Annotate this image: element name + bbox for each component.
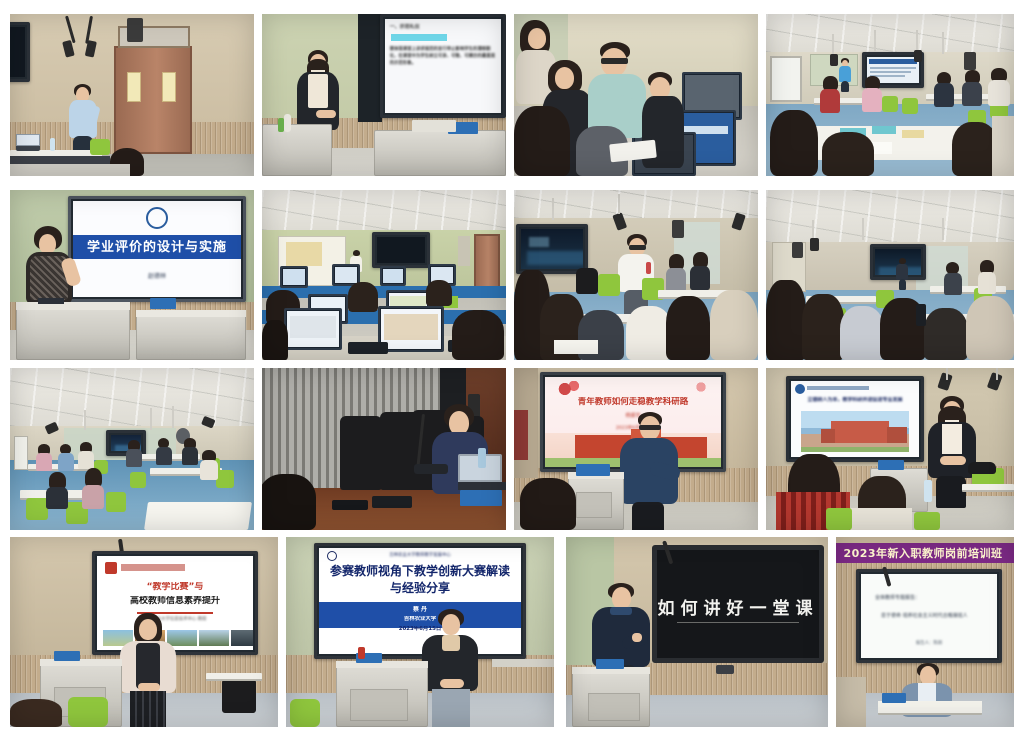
- photo-r3c3: 青年教师如何走稳教学科研路 杨振宇 2023年6月15日: [514, 368, 758, 530]
- slide-title-line1: “教学比赛”与: [103, 582, 247, 593]
- photo-r2c1: 学业评价的设计与实施 赵德林: [10, 190, 254, 360]
- photo-r2c2: [262, 190, 506, 360]
- photo-r2c3: [514, 190, 758, 360]
- projection-screen-r3c4: 立德树人为本，教学科研并进促进专业发展: [786, 376, 924, 462]
- blackboard-text: 如何讲好一堂课: [657, 594, 819, 619]
- photo-r3c2: [262, 368, 506, 530]
- photo-r2c4: [766, 190, 1014, 360]
- slide-title: 青年教师如何走稳教学科研路: [552, 397, 714, 408]
- display-panel-r4c2: 吉林农业大学教师教学发展中心 参赛教师视角下教学创新大赛解读 与经验分享 蔡 丹…: [314, 543, 526, 659]
- photo-collage: 一、示范礼仪 要体现课堂上讲求规范的言行举止影响学生的潜移默化，在课堂中为学生树…: [0, 0, 1024, 735]
- photo-r3c4: 立德树人为本，教学科研并进促进专业发展: [766, 368, 1014, 530]
- event-banner-text: 2023年新入职教师岗前培训班: [843, 545, 1002, 561]
- blackboard-r4c3: 如何讲好一堂课: [652, 545, 824, 663]
- photo-r1c3: [514, 14, 758, 176]
- photo-r4c3: 如何讲好一堂课: [566, 537, 828, 727]
- slide-title: 立德树人为本，教学科研并进促进专业发展: [796, 397, 914, 403]
- photo-r1c4: [766, 14, 1014, 176]
- slide-presenter: 赵德林: [73, 271, 241, 280]
- slide-org: 吉林农业大学: [327, 616, 513, 623]
- slide-org-header: 吉林农业大学教师教学发展中心: [319, 552, 521, 558]
- photo-r1c2: 一、示范礼仪 要体现课堂上讲求规范的言行举止影响学生的潜移默化，在课堂中为学生树…: [262, 14, 506, 176]
- projection-screen-r1c2: 一、示范礼仪 要体现课堂上讲求规范的言行举止影响学生的潜移默化，在课堂中为学生树…: [380, 14, 506, 118]
- display-screen-r2c3: [516, 224, 588, 274]
- projection-screen-r2c1: 学业评价的设计与实施 赵德林: [68, 196, 246, 302]
- display-panel-r4c4: 全体教师专题报告： 忠于使命 培养社会主义时代合格接班人 报告人：陈刚: [856, 569, 1002, 663]
- photo-r4c1: “教学比赛”与 高校教师信息素养提升 吉林农业大学信息技术中心 教授: [10, 537, 278, 727]
- photo-r4c2: 吉林农业大学教师教学发展中心 参赛教师视角下教学创新大赛解读 与经验分享 蔡 丹…: [286, 537, 554, 727]
- slide-title-line2: 与经验分享: [327, 581, 513, 596]
- slide-presenter: 蔡 丹: [327, 606, 513, 614]
- slide-body: 要体现课堂上讲求规范的言行举止影响学生的潜移默化，在课堂中为学生树立可亲、可敬、…: [390, 46, 497, 67]
- slide-line1: 全体教师专题报告：: [875, 594, 997, 601]
- slide-title-line2: 高校教师信息素养提升: [103, 596, 247, 607]
- slide-line2: 忠于使命 培养社会主义时代合格接班人: [881, 612, 997, 619]
- photo-r3c1: [10, 368, 254, 530]
- slide-heading: 一、示范礼仪: [390, 24, 497, 30]
- slide-title: 学业评价的设计与实施: [80, 240, 235, 256]
- photo-r1c1: [10, 14, 254, 176]
- slide-date: 2023年6月15日: [327, 626, 513, 633]
- event-banner: 2023年新入职教师岗前培训班: [836, 543, 1014, 563]
- slide-title-line1: 参赛教师视角下教学创新大赛解读: [327, 564, 513, 579]
- slide-presenter: 报告人：陈刚: [861, 640, 997, 646]
- photo-r4c4: 2023年新入职教师岗前培训班 全体教师专题报告： 忠于使命 培养社会主义时代合…: [836, 537, 1014, 727]
